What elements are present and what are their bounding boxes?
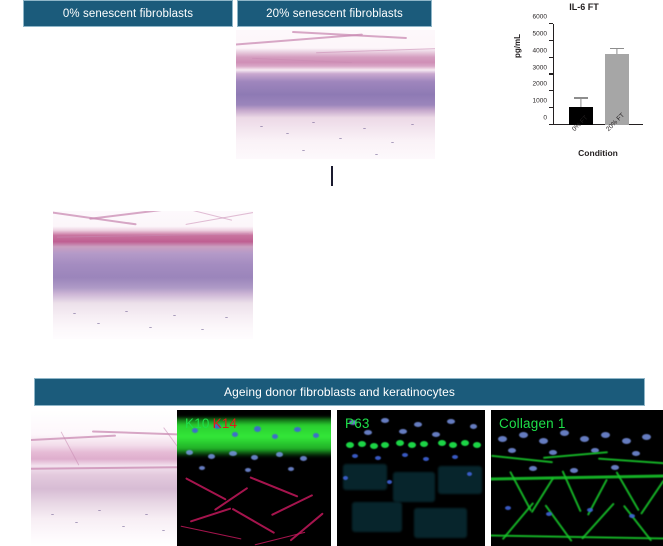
k14-dermal-fiber <box>249 476 298 497</box>
banner-0-percent-senescent: 0% senescent fibroblasts <box>23 0 233 27</box>
y-tick-label: 1000 <box>533 98 547 105</box>
histology-image-20-percent <box>236 30 435 159</box>
collagen-fiber <box>598 458 663 465</box>
nucleus <box>452 455 458 459</box>
dermal-autofluorescence <box>393 472 434 502</box>
nucleus <box>276 452 283 457</box>
nucleus <box>580 436 589 442</box>
nucleus <box>432 432 440 437</box>
y-tick <box>549 107 553 108</box>
nucleus <box>505 506 511 510</box>
nucleus <box>199 466 205 470</box>
histology-strata <box>53 211 253 339</box>
y-tick-label: 4000 <box>533 47 547 54</box>
collagen-fiber <box>581 502 615 539</box>
p63-positive-nucleus <box>420 441 428 447</box>
y-tick <box>549 90 553 91</box>
p63-positive-nucleus <box>438 440 446 446</box>
nucleus <box>352 454 358 458</box>
dermal-autofluorescence <box>343 464 387 490</box>
nucleus <box>539 438 548 444</box>
text-cursor <box>331 166 333 186</box>
fluorescence-marker-labels: P63 <box>345 416 373 431</box>
y-tick-label: 6000 <box>533 14 547 21</box>
collagen-fiber <box>491 534 663 540</box>
p63-positive-nucleus <box>381 442 389 448</box>
banner-ageing-label: Ageing donor fibroblasts and keratinocyt… <box>224 385 455 399</box>
banner-20-percent-senescent: 20% senescent fibroblasts <box>237 0 432 27</box>
y-tick-label: 3000 <box>533 64 547 71</box>
nucleus <box>570 468 578 473</box>
nucleus <box>288 467 294 471</box>
dermal-autofluorescence <box>438 466 482 494</box>
fluorescence-marker-labels: K10K14 <box>185 416 240 431</box>
y-tick <box>549 40 553 41</box>
k14-dermal-fiber <box>185 477 227 500</box>
fluorescence-panel-p63: P63 <box>337 410 485 546</box>
k14-dermal-fiber <box>289 512 323 541</box>
banner-20-percent-label: 20% senescent fibroblasts <box>266 8 403 20</box>
error-bar-line <box>580 99 581 108</box>
p63-positive-nucleus <box>449 442 457 448</box>
nucleus <box>423 457 429 461</box>
nucleus <box>519 432 528 438</box>
error-bar-cap <box>610 48 624 49</box>
nucleus <box>375 456 381 460</box>
k14-dermal-fiber <box>255 532 306 546</box>
chart-x-axis-label: Condition <box>553 148 643 158</box>
nucleus <box>549 450 557 455</box>
bar-0-percent-ft <box>569 24 593 125</box>
chart-title: IL-6 FT <box>505 2 663 12</box>
y-tick <box>549 57 553 58</box>
dermal-autofluorescence <box>352 502 402 532</box>
nucleus <box>498 436 507 442</box>
y-tick <box>549 23 553 24</box>
collagen-fiber <box>531 477 555 513</box>
nucleus <box>245 468 251 472</box>
nucleus <box>611 465 619 470</box>
nucleus <box>529 466 537 471</box>
nucleus <box>313 433 319 438</box>
nucleus <box>399 429 407 434</box>
p63-positive-nucleus <box>346 442 354 448</box>
y-tick <box>549 73 553 74</box>
error-bar-cap <box>574 97 588 98</box>
x-axis-line <box>553 124 643 125</box>
k14-dermal-fiber <box>232 508 275 534</box>
histology-image-0-percent <box>53 211 253 339</box>
y-axis-line <box>553 24 554 125</box>
nucleus <box>508 448 516 453</box>
nucleus <box>601 432 610 438</box>
nucleus <box>587 508 593 512</box>
p63-positive-nucleus <box>370 443 378 449</box>
nucleus <box>300 456 307 461</box>
nucleus <box>387 480 392 484</box>
nucleus <box>343 476 348 480</box>
nucleus <box>251 455 258 460</box>
marker-label-k10: K10 <box>185 416 210 431</box>
marker-label-k14: K14 <box>213 416 238 431</box>
k14-dermal-fiber <box>271 494 313 516</box>
p63-positive-nucleus <box>461 440 469 446</box>
nucleus <box>208 454 215 459</box>
nucleus <box>632 451 640 456</box>
p63-positive-nucleus <box>396 440 404 446</box>
marker-label-p63: P63 <box>345 416 370 431</box>
dermal-autofluorescence <box>414 508 467 538</box>
k14-dermal-fiber <box>190 507 231 522</box>
y-tick-label: 5000 <box>533 31 547 38</box>
nucleus <box>402 453 408 457</box>
fluorescence-panel-collagen1: Collagen 1 <box>491 410 663 546</box>
histology-image-ageing-donor <box>31 410 177 546</box>
chart-y-axis-label: pg/mL <box>513 34 522 58</box>
nucleus <box>381 418 389 423</box>
nucleus <box>294 427 301 432</box>
bar-20-percent-ft <box>605 24 629 125</box>
il6-bar-chart: IL-6 FT pg/mL 0 1000 2000 3000 4000 5000… <box>505 2 663 165</box>
fluorescence-panel-k10-k14: K10K14 <box>177 410 331 546</box>
p63-positive-nucleus <box>473 442 481 448</box>
nucleus <box>642 434 651 440</box>
y-tick-label: 2000 <box>533 81 547 88</box>
y-tick <box>549 124 553 125</box>
error-bar-line <box>616 49 617 54</box>
p63-positive-nucleus <box>408 442 416 448</box>
nucleus <box>546 512 552 516</box>
nucleus <box>254 426 261 432</box>
nucleus <box>629 514 635 518</box>
banner-0-percent-label: 0% senescent fibroblasts <box>63 8 193 20</box>
nucleus <box>622 438 631 444</box>
collagen-fiber <box>640 479 663 515</box>
marker-label-collagen1: Collagen 1 <box>499 416 566 431</box>
collagen-fiber <box>491 474 663 480</box>
k14-dermal-fiber <box>181 526 242 540</box>
p63-positive-nucleus <box>358 441 366 447</box>
nucleus <box>447 419 455 424</box>
nucleus <box>414 422 422 427</box>
y-tick-label: 0 <box>543 115 547 122</box>
fluorescence-marker-labels: Collagen 1 <box>499 416 569 431</box>
chart-plot-area: 0 1000 2000 3000 4000 5000 6000 0% FT 20… <box>553 24 641 125</box>
nucleus <box>470 424 477 429</box>
banner-ageing-donor: Ageing donor fibroblasts and keratinocyt… <box>34 378 645 406</box>
